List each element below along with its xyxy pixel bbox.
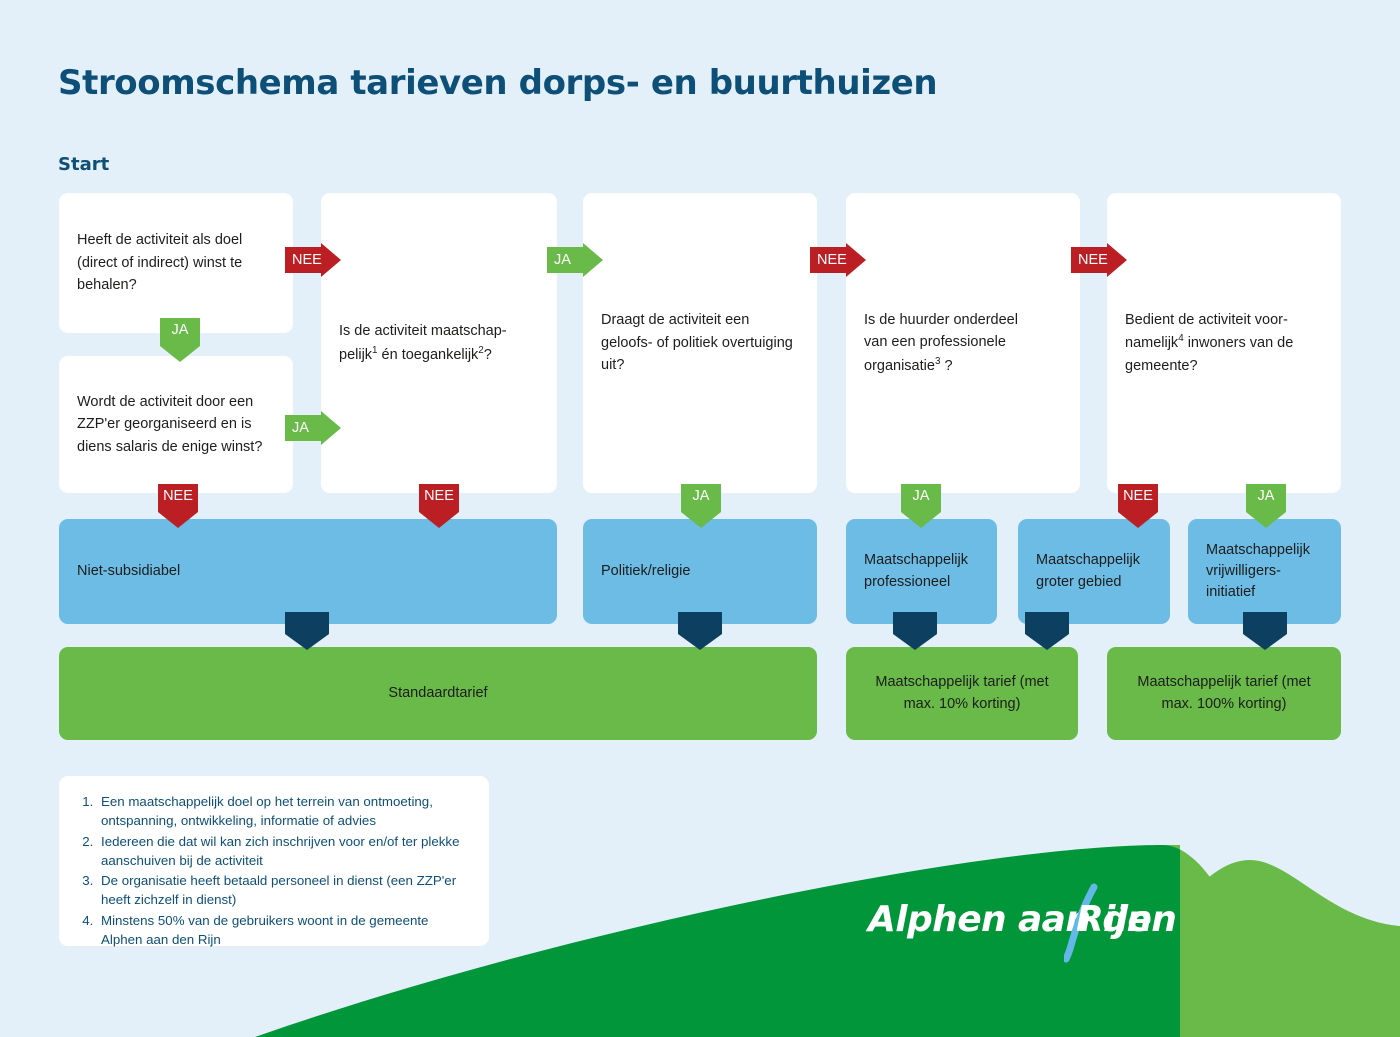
badge-label: JA [554,252,571,268]
category-card-niet-subsidiabel[interactable]: Niet-subsidiabel [59,519,557,624]
question-text: Wordt de activiteit door een ZZP'er geor… [77,391,275,458]
category-card-maatschappelijk-professioneel[interactable]: Maatschappelijk professioneel [846,519,997,624]
badge-label: NEE [292,252,322,268]
footnote-item: Minstens 50% van de gebruikers woont in … [97,911,471,950]
badge-label: JA [1258,488,1275,504]
connector-vrijwilligers-to-tarief100 [1243,612,1287,650]
badge-label: NEE [424,488,454,504]
connector-groter-gebied-to-tarief10 [1025,612,1069,650]
start-label: Start [58,154,109,175]
badge-label: NEE [1078,252,1108,268]
category-card-maatschappelijk-vrijwilligersinitiatief[interactable]: Maatschappelijk vrijwilligers-initiatief [1188,519,1341,624]
question-text: Draagt de activiteit een geloofs- of pol… [601,309,799,376]
tariff-label: Standaardtarief [388,683,487,705]
category-label: Maatschappelijk groter gebied [1036,550,1152,592]
category-label: Politiek/religie [601,561,690,582]
badge-label: JA [913,488,930,504]
question-text: Is de huurder onderdeelvan een professio… [864,309,1018,377]
question-card-q1[interactable]: Heeft de activiteit als doel (direct of … [59,193,293,333]
connector-niet-subsidiabel-to-standaardtarief [285,612,329,650]
tariff-card-maatschappelijk-100[interactable]: Maatschappelijk tarief (met max. 100% ko… [1107,647,1341,740]
category-label: Maatschappelijk vrijwilligers-initiatief [1206,540,1323,603]
page-title: Stroomschema tarieven dorps- en buurthui… [58,63,937,103]
footnote-item: Een maatschappelijk doel op het terrein … [97,792,471,831]
flowchart-canvas: Alphen aan den Rijn Stroomschema tarieve… [0,0,1400,1037]
tariff-label: Maatschappelijk tarief (met max. 100% ko… [1121,672,1327,716]
badge-label: JA [172,322,189,338]
question-text: Heeft de activiteit als doel (direct of … [77,229,275,296]
badge-label: JA [292,420,309,436]
question-text: Is de activiteit maatschap-pelijk1 én to… [339,320,507,366]
badge-label: JA [693,488,710,504]
category-card-maatschappelijk-groter-gebied[interactable]: Maatschappelijk groter gebied [1018,519,1170,624]
category-card-politiek-religie[interactable]: Politiek/religie [583,519,817,624]
connector-professioneel-to-tarief10 [893,612,937,650]
question-card-q6[interactable]: Bedient de activiteit voor-namelijk4 inw… [1107,193,1341,493]
badge-label: NEE [817,252,847,268]
category-label: Maatschappelijk professioneel [864,550,979,592]
connector-politiek-religie-to-standaardtarief [678,612,722,650]
question-card-q4[interactable]: Draagt de activiteit een geloofs- of pol… [583,193,817,493]
tariff-card-standaardtarief[interactable]: Standaardtarief [59,647,817,740]
category-label: Niet-subsidiabel [77,561,180,582]
footnote-item: De organisatie heeft betaald personeel i… [97,871,471,910]
tariff-card-maatschappelijk-10[interactable]: Maatschappelijk tarief (met max. 10% kor… [846,647,1078,740]
footnote-item: Iedereen die dat wil kan zich inschrijve… [97,832,471,871]
municipality-logo: Alphen aan den Rijn [868,893,1158,963]
footnotes-list: Een maatschappelijk doel op het terrein … [75,792,471,949]
question-card-q5[interactable]: Is de huurder onderdeelvan een professio… [846,193,1080,493]
badge-label: NEE [1123,488,1153,504]
question-card-q3[interactable]: Is de activiteit maatschap-pelijk1 én to… [321,193,557,493]
tariff-label: Maatschappelijk tarief (met max. 10% kor… [860,672,1064,716]
footnotes-panel: Een maatschappelijk doel op het terrein … [59,776,489,946]
logo-rijn-text: Rijn [1076,899,1152,940]
badge-label: NEE [163,488,193,504]
question-text: Bedient de activiteit voor-namelijk4 inw… [1125,309,1293,377]
question-card-q2[interactable]: Wordt de activiteit door een ZZP'er geor… [59,356,293,493]
